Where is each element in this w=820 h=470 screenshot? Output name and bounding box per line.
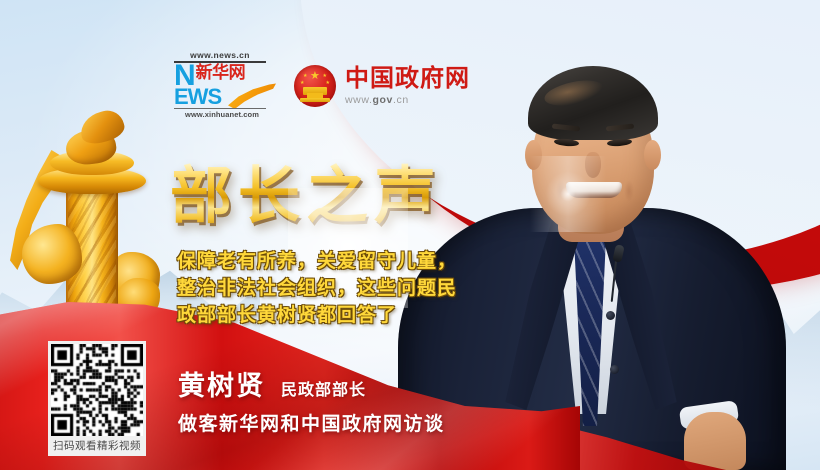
- suit-button-top: [606, 311, 615, 320]
- emblem-small-star-1: ★: [303, 74, 307, 79]
- emblem-small-star-2: ★: [300, 81, 304, 86]
- gov-site-url: www.gov.cn: [345, 94, 470, 106]
- suit-button-bottom: [610, 365, 619, 374]
- hand: [684, 412, 746, 470]
- subtitle-line-3: 政部部长黄树贤都回答了: [177, 302, 507, 329]
- logo-row: www.news.cn N 新华网 EWS www.xinhuanet.com …: [172, 50, 470, 122]
- guest-note: 做客新华网和中国政府网访谈: [178, 409, 445, 436]
- banner-subtitle: 保障老有所养，关爱留守儿童， 整治非法社会组织，这些问题民 政部部长黄树贤都回答…: [177, 248, 507, 329]
- huabiao-cloud-left: [22, 224, 82, 284]
- guest-name: 黄树贤: [178, 372, 265, 402]
- mouth: [566, 182, 622, 198]
- emblem-small-star-4: ★: [326, 81, 330, 86]
- xinhua-chinese-name: 新华网: [196, 64, 246, 83]
- gov-text-block: 中国政府网 www.gov.cn: [345, 66, 470, 106]
- ear-right: [644, 140, 661, 170]
- xinhuanet-logo[interactable]: www.news.cn N 新华网 EWS www.xinhuanet.com: [172, 50, 276, 122]
- guest-role: 民政部部长: [281, 376, 366, 400]
- emblem-small-star-3: ★: [323, 74, 327, 79]
- smile-line-right: [624, 180, 634, 202]
- gov-url-suffix: .cn: [393, 94, 409, 106]
- gov-url-bold: gov: [373, 94, 393, 106]
- interview-banner: www.news.cn N 新华网 EWS www.xinhuanet.com …: [0, 0, 820, 470]
- guest-name-row: 黄树贤 民政部部长: [178, 372, 445, 402]
- qr-code-panel[interactable]: 扫码观看精彩视频: [48, 341, 146, 456]
- gov-cn-logo[interactable]: ★ ★ ★ ★ 中国政府网 www.gov.cn: [294, 58, 470, 114]
- gov-site-name: 中国政府网: [345, 66, 470, 91]
- xinhua-bottom-url: www.xinhuanet.com: [172, 110, 272, 119]
- subtitle-line-1: 保障老有所养，关爱留守儿童，: [177, 248, 507, 275]
- qr-code-image[interactable]: [51, 344, 143, 436]
- huabiao-beast: [77, 107, 127, 147]
- subtitle-line-2: 整治非法社会组织，这些问题民: [177, 275, 507, 302]
- qr-code-canvas: [51, 344, 143, 436]
- gov-url-prefix: www.: [345, 94, 373, 106]
- page-title: 部长之声: [170, 160, 442, 232]
- smile-line-left: [556, 180, 566, 202]
- guest-info-block: 黄树贤 民政部部长 做客新华网和中国政府网访谈: [178, 372, 445, 436]
- xinhua-rule-bottom: [174, 108, 266, 109]
- xinhua-letters-ews: EWS: [174, 87, 221, 107]
- banner-title-wrap: 部长之声: [170, 160, 442, 232]
- emblem-base: [300, 98, 330, 102]
- nose: [585, 152, 601, 178]
- qr-code-caption: 扫码观看精彩视频: [48, 438, 146, 454]
- national-emblem-icon: ★ ★ ★ ★: [294, 65, 336, 107]
- ear-left: [525, 140, 542, 170]
